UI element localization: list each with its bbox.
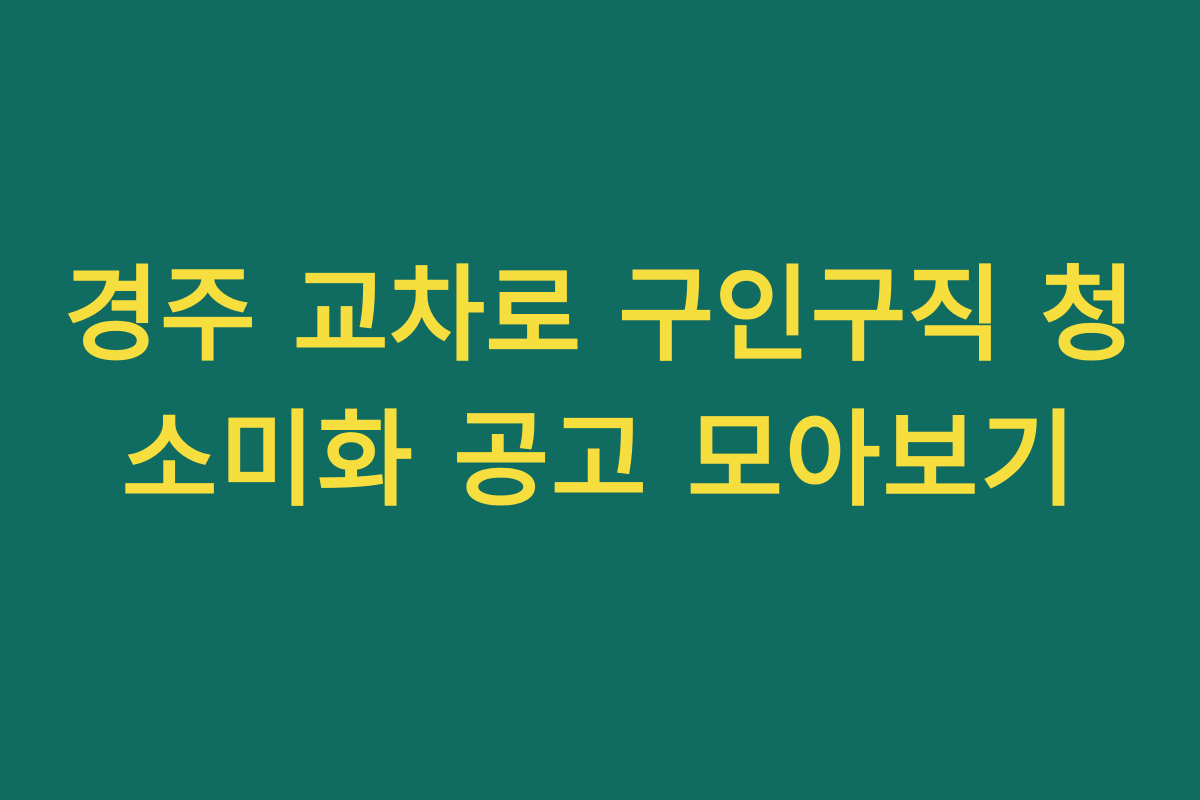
- headline-text-block: 경주 교차로 구인구직 청 소미화 공고 모아보기: [40, 243, 1160, 533]
- banner-canvas: 경주 교차로 구인구직 청 소미화 공고 모아보기: [0, 0, 1200, 800]
- headline-line-2: 소미화 공고 모아보기: [40, 388, 1160, 533]
- headline-line-1: 경주 교차로 구인구직 청: [40, 243, 1160, 388]
